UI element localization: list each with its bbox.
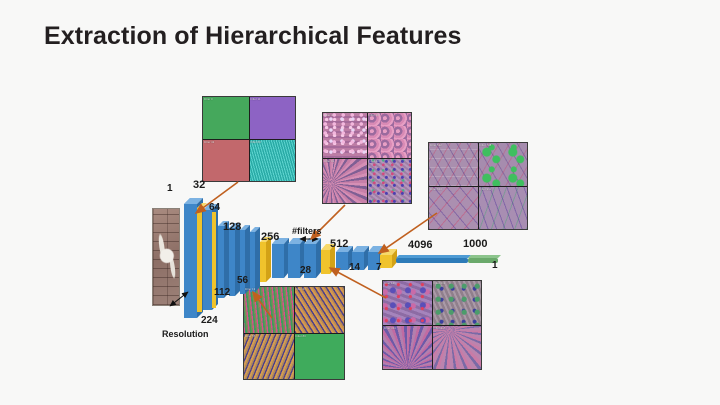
conv-block-1 <box>184 198 218 318</box>
axis-label-filters: #filters <box>292 227 322 236</box>
feature-cell-tag: Filter 63 <box>251 141 261 144</box>
label-filters-256: 256 <box>261 232 279 243</box>
feature-cell-tag: Filter 80 <box>296 335 306 338</box>
feature-cell-tag: Filter 11 <box>251 98 261 101</box>
label-resolution-7: 7 <box>376 263 382 273</box>
label-output-1: 1 <box>492 261 498 271</box>
feature-cell-tag: Filter 512 <box>430 144 442 147</box>
label-filters-64: 64 <box>209 203 220 213</box>
feature-cell-tag: Filter 211 <box>434 282 446 285</box>
axis-label-resolution: Resolution <box>162 330 209 339</box>
label-filters-4096: 4096 <box>408 240 432 251</box>
label-filters-32: 32 <box>193 180 205 191</box>
label-resolution-28: 28 <box>300 266 311 276</box>
slide-canvas: Extraction of Hierarchical Features Filt… <box>0 0 720 405</box>
feature-cell-tag: Filter 48 <box>369 114 379 117</box>
label-filters-512: 512 <box>330 239 348 250</box>
label-resolution-224: 224 <box>201 316 218 326</box>
feature-cell-tag: Filter 840 <box>430 188 442 191</box>
label-filters-128: 128 <box>223 222 241 233</box>
feature-cell-tag: Filter 106 <box>384 282 396 285</box>
feature-cell-tag: Filter 91 <box>324 160 334 163</box>
feature-cell-tag: Filter 304 <box>384 327 396 330</box>
feature-cell-tag: Filter 19 <box>245 288 255 291</box>
label-resolution-14: 14 <box>349 263 360 273</box>
label-input-depth: 1 <box>167 184 173 194</box>
fc-layers <box>396 255 501 263</box>
feature-cell-tag: Filter 4 <box>324 114 333 117</box>
label-resolution-56: 56 <box>237 276 248 286</box>
feature-cell-tag: Filter 55 <box>245 335 255 338</box>
feature-cell-tag: Filter 120 <box>369 160 381 163</box>
feature-cell-tag: Filter 27 <box>296 288 306 291</box>
feature-cell-tag: Filter 738 <box>480 144 492 147</box>
label-resolution-112: 112 <box>214 288 230 298</box>
feature-cell-tag: Filter 42 <box>204 141 214 144</box>
feature-cell-tag: Filter 991 <box>480 188 492 191</box>
feature-cell-tag: Filter 0 <box>204 98 213 101</box>
label-filters-1000: 1000 <box>463 239 487 250</box>
feature-cell-tag: Filter 417 <box>434 327 446 330</box>
network-diagram <box>0 0 720 405</box>
